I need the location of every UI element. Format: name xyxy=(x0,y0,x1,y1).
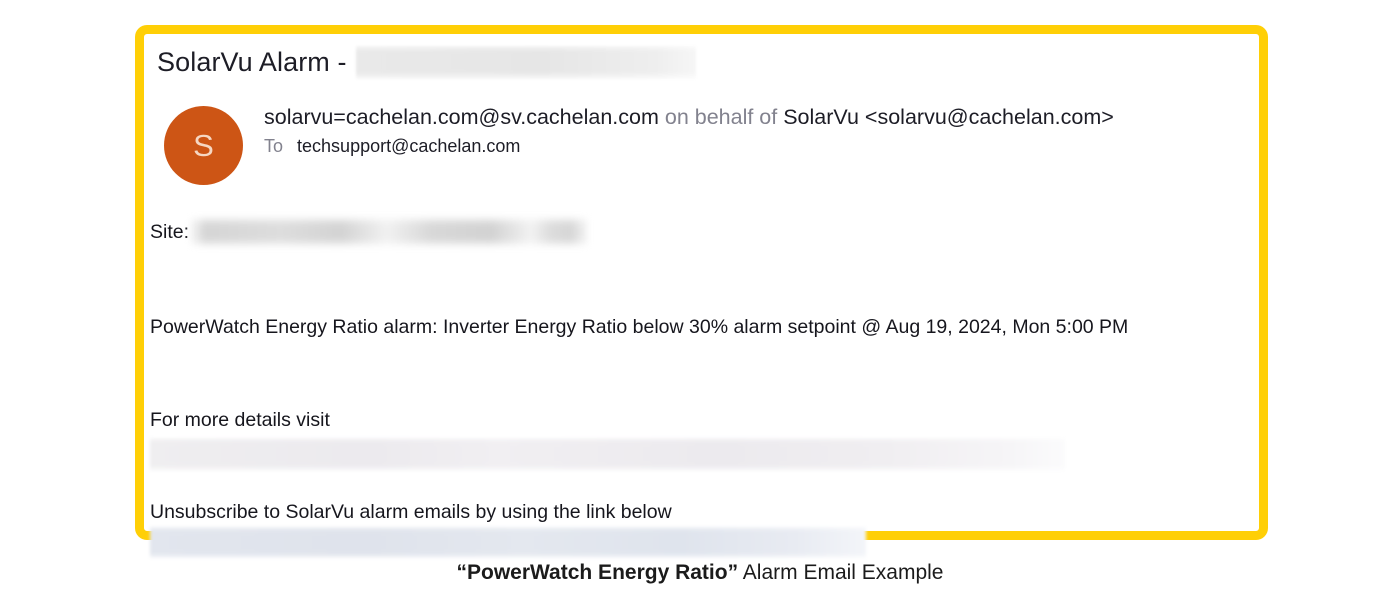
email-subject-text: SolarVu Alarm - xyxy=(157,47,347,78)
caption-open-quote: “ xyxy=(456,561,467,584)
site-value-redaction-block xyxy=(191,217,588,247)
site-row: Site: xyxy=(150,217,588,247)
email-to-line: To techsupport@cachelan.com xyxy=(264,134,1114,159)
alarm-message-text: PowerWatch Energy Ratio alarm: Inverter … xyxy=(150,314,1128,340)
unsubscribe-label: Unsubscribe to SolarVu alarm emails by u… xyxy=(150,499,672,525)
subject-redaction-block xyxy=(356,46,696,79)
to-address[interactable]: techsupport@cachelan.com xyxy=(297,136,520,156)
sender-detail-lines: solarvu=cachelan.com@sv.cachelan.com on … xyxy=(264,102,1114,159)
email-subject-row: SolarVu Alarm - xyxy=(157,42,696,82)
alarm-email-card: SolarVu Alarm - S solarvu=cachelan.com@s… xyxy=(135,25,1268,540)
from-address[interactable]: solarvu=cachelan.com@sv.cachelan.com xyxy=(264,105,659,129)
sender-avatar: S xyxy=(164,106,243,185)
from-display-address[interactable]: <solarvu@cachelan.com> xyxy=(865,105,1114,129)
figure-caption: “PowerWatch Energy Ratio” Alarm Email Ex… xyxy=(0,561,1400,585)
from-display-name[interactable]: SolarVu xyxy=(783,105,859,129)
to-label: To xyxy=(264,136,283,156)
details-visit-label: For more details visit xyxy=(150,407,330,433)
email-sender-block: S solarvu=cachelan.com@sv.cachelan.com o… xyxy=(157,102,1247,192)
caption-alarm-name: PowerWatch Energy Ratio xyxy=(467,561,728,584)
on-behalf-of-label: on behalf of xyxy=(665,105,777,129)
details-link-redaction-block[interactable] xyxy=(150,438,1065,471)
site-label: Site: xyxy=(150,219,189,245)
email-from-line: solarvu=cachelan.com@sv.cachelan.com on … xyxy=(264,102,1114,132)
unsubscribe-link-redaction-block[interactable] xyxy=(150,527,866,558)
avatar-initial: S xyxy=(193,130,214,161)
caption-close-quote: ” xyxy=(728,561,739,584)
caption-suffix: Alarm Email Example xyxy=(738,561,943,584)
